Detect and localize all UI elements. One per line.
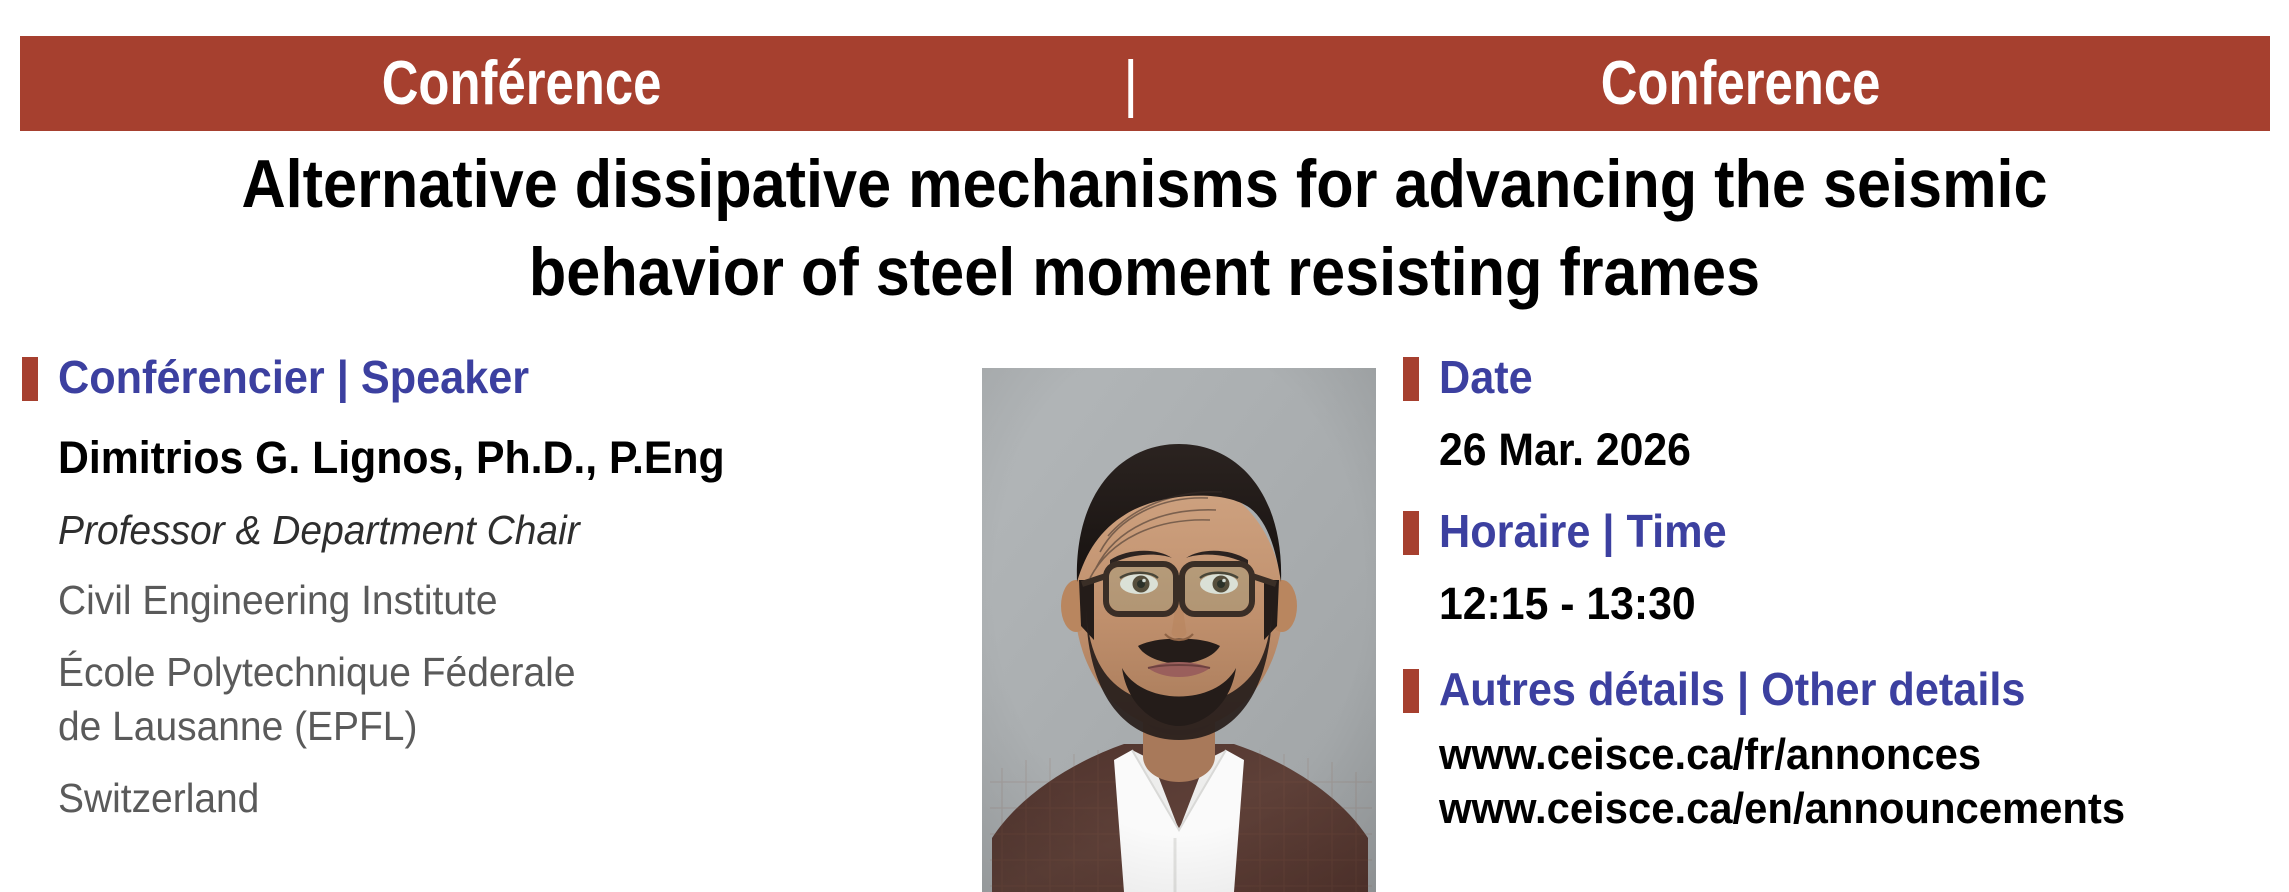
date-heading-label: Date (1439, 352, 1533, 402)
conference-banner: Conférence | Conference (20, 36, 2270, 131)
page-title-line-1: Alternative dissipative mechanisms for a… (114, 140, 2174, 228)
speaker-name: Dimitrios G. Lignos, Ph.D., P.Eng (58, 432, 917, 484)
speaker-section: Conférencier | Speaker Dimitrios G. Lign… (22, 352, 962, 824)
time-value: 12:15 - 13:30 (1439, 578, 2241, 630)
announcement-url-fr[interactable]: www.ceisce.ca/fr/annonces (1439, 728, 2241, 782)
time-heading-label: Horaire | Time (1439, 506, 1727, 556)
conference-announcement-poster: Conférence | Conference Alternative diss… (0, 0, 2289, 892)
other-details-heading: Autres détails | Other details (1403, 664, 2283, 714)
date-heading: Date (1403, 352, 2283, 402)
red-tick-icon (1403, 669, 1419, 713)
speaker-affiliation-university-cont: de Lausanne (EPFL) (58, 700, 917, 752)
banner-separator: | (1126, 53, 1136, 115)
banner-label-en: Conference (1601, 53, 1881, 115)
red-tick-icon (22, 357, 38, 401)
speaker-affiliation-institute: Civil Engineering Institute (58, 574, 917, 626)
spacer (1403, 630, 2283, 664)
speaker-portrait-photo (982, 368, 1376, 892)
time-heading: Horaire | Time (1403, 506, 2283, 556)
speaker-heading: Conférencier | Speaker (22, 352, 962, 402)
details-section: Date 26 Mar. 2026 Horaire | Time 12:15 -… (1403, 352, 2283, 836)
speaker-role: Professor & Department Chair (58, 506, 917, 554)
banner-inner: Conférence | Conference (351, 53, 1911, 115)
page-title-line-2: behavior of steel moment resisting frame… (114, 228, 2174, 316)
page-title: Alternative dissipative mechanisms for a… (0, 140, 2289, 316)
red-tick-icon (1403, 357, 1419, 401)
date-value: 26 Mar. 2026 (1439, 424, 2241, 476)
speaker-heading-label: Conférencier | Speaker (58, 352, 529, 402)
spacer (1403, 476, 2283, 506)
speaker-affiliation-university: École Polytechnique Féderale (58, 646, 917, 698)
red-tick-icon (1403, 511, 1419, 555)
other-details-heading-label: Autres détails | Other details (1439, 664, 2025, 714)
speaker-affiliation-country: Switzerland (58, 772, 917, 824)
banner-label-fr: Conférence (382, 53, 662, 115)
announcement-url-en[interactable]: www.ceisce.ca/en/announcements (1439, 782, 2241, 836)
